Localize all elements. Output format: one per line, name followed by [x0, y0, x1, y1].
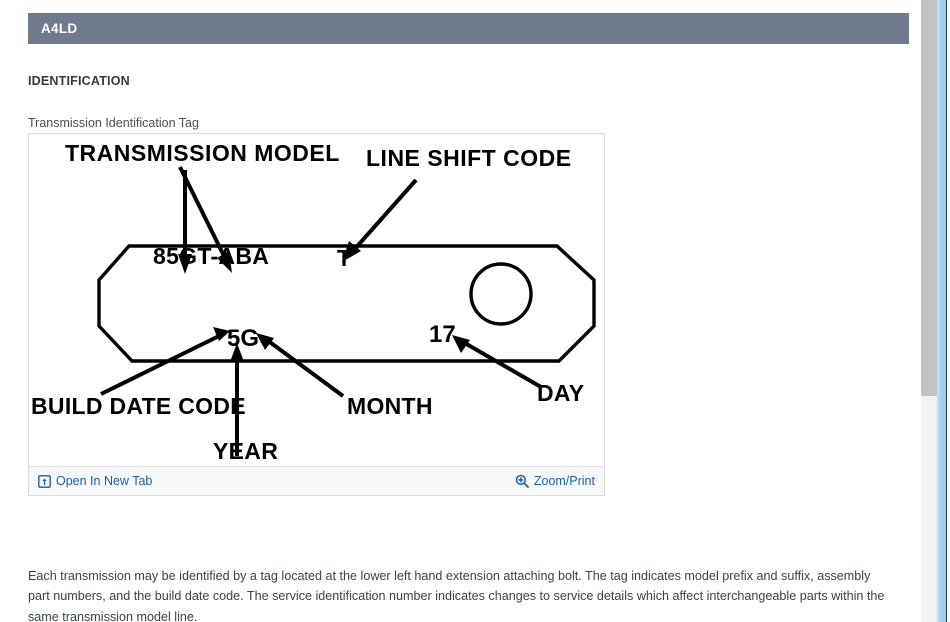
section-heading: IDENTIFICATION — [28, 74, 130, 88]
svg-text:5G: 5G — [227, 325, 259, 352]
window-edge-border — [946, 0, 950, 622]
window-edge-highlight — [937, 0, 946, 622]
section-title-bar: A4LD — [28, 13, 909, 44]
figure-toolbar: Open In New Tab Zoom/Print — [29, 466, 604, 495]
svg-text:85GT-ABA: 85GT-ABA — [153, 243, 269, 269]
zoom-print-label: Zoom/Print — [534, 474, 595, 488]
figure-caption: Transmission Identification Tag — [28, 116, 199, 130]
svg-text:LINE SHIFT CODE: LINE SHIFT CODE — [366, 145, 572, 171]
magnifier-plus-icon — [515, 474, 529, 488]
svg-text:TRANSMISSION MODEL: TRANSMISSION MODEL — [65, 140, 340, 166]
figure-image[interactable]: TRANSMISSION MODEL 85GT-ABA LINE SHIFT C… — [29, 134, 604, 467]
page-root: A4LD IDENTIFICATION Transmission Identif… — [0, 0, 950, 622]
body-paragraph: Each transmission may be identified by a… — [28, 566, 888, 622]
document-content: A4LD IDENTIFICATION Transmission Identif… — [0, 0, 921, 622]
svg-text:MONTH: MONTH — [347, 393, 433, 419]
svg-text:YEAR: YEAR — [213, 438, 278, 464]
open-in-new-tab-label: Open In New Tab — [56, 474, 152, 488]
svg-text:DAY: DAY — [537, 380, 584, 406]
svg-text:BUILD DATE CODE: BUILD DATE CODE — [31, 393, 246, 419]
page-title: A4LD — [41, 21, 77, 36]
scrollbar-thumb[interactable] — [921, 0, 937, 396]
open-in-new-window-icon — [38, 475, 51, 488]
svg-text:T: T — [337, 245, 351, 271]
open-in-new-tab-button[interactable]: Open In New Tab — [38, 474, 152, 488]
zoom-print-button[interactable]: Zoom/Print — [515, 474, 595, 488]
svg-text:17: 17 — [429, 321, 456, 348]
figure-panel: TRANSMISSION MODEL 85GT-ABA LINE SHIFT C… — [28, 133, 605, 496]
